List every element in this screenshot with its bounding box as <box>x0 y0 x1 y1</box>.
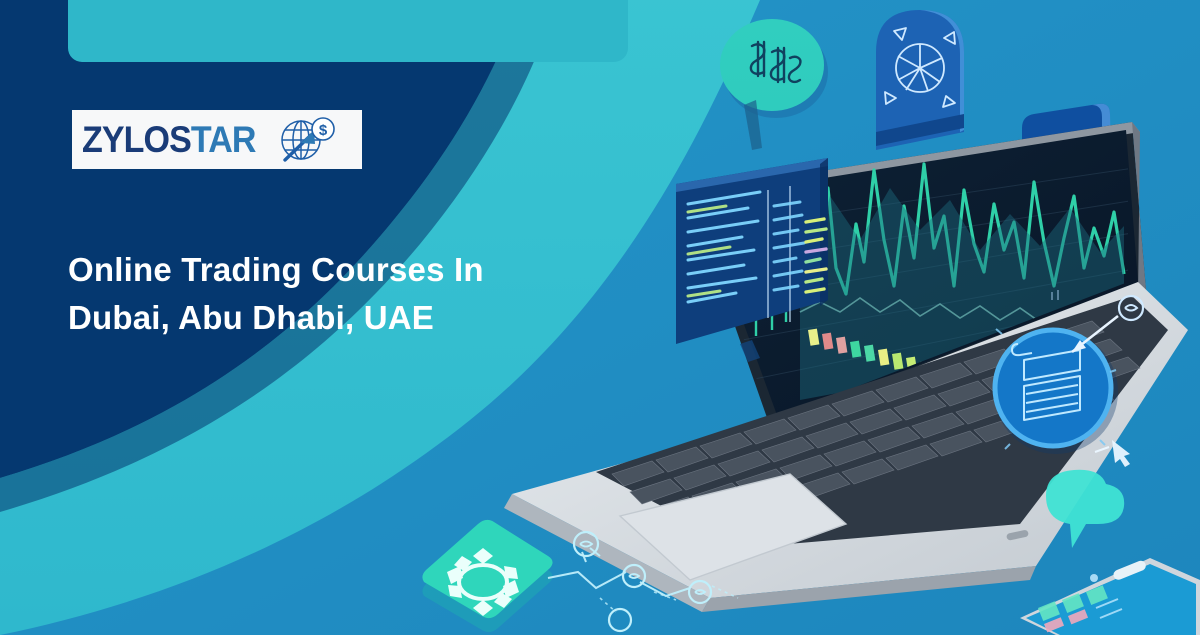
hero-banner: ZYLOSTAR $ Online Trading Courses In Dub… <box>0 0 1200 635</box>
headline-line-2: Dubai, Abu Dhabi, UAE <box>68 294 608 342</box>
logo-word-part-two: TAR <box>191 119 256 160</box>
logo-word-part-one: ZYLOS <box>82 119 191 160</box>
logo-wordmark: ZYLOSTAR <box>82 121 256 158</box>
svg-text:$: $ <box>318 122 327 139</box>
dollar-coin-icon: $ <box>312 118 334 140</box>
brand-logo[interactable]: ZYLOSTAR $ <box>72 110 362 169</box>
pie-chart-card <box>876 10 964 150</box>
page-title: Online Trading Courses In Dubai, Abu Dha… <box>68 246 608 342</box>
smartphone-device <box>1020 558 1200 635</box>
chat-bubble-shape <box>1046 470 1124 548</box>
up-arrow-icon <box>285 130 315 160</box>
headline-line-1: Online Trading Courses In <box>68 246 608 294</box>
currency-badge-card <box>720 19 828 150</box>
globe-arrow-dollar-icon: $ <box>275 116 337 164</box>
